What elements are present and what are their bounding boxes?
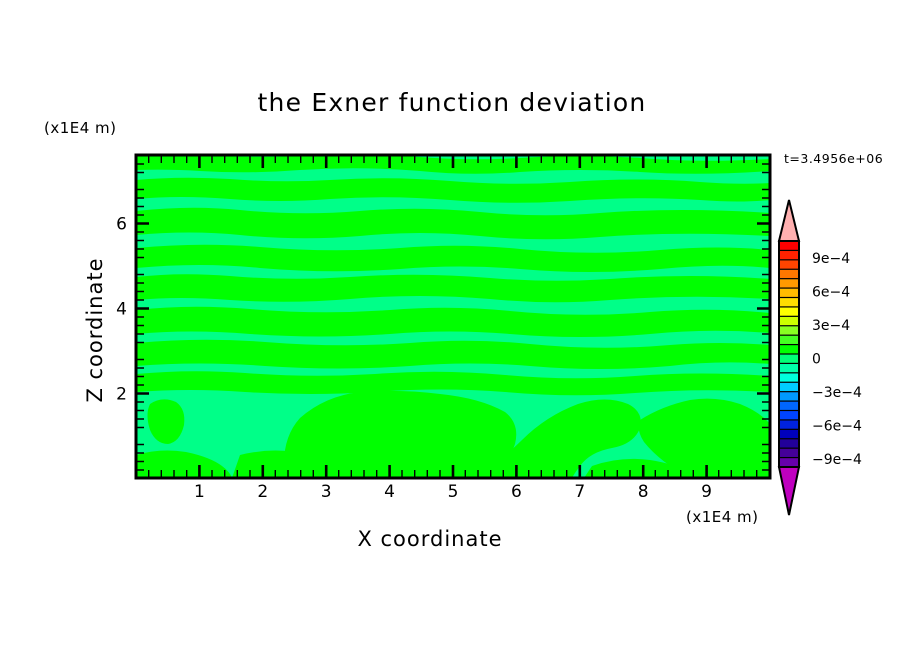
x-axis-tick-label: 4 — [384, 482, 395, 502]
x-axis-tick-label: 5 — [448, 482, 459, 502]
colorbar-over-arrow — [779, 200, 799, 241]
colorbar-tick-label: −3e−4 — [812, 385, 862, 401]
x-axis-tick-label: 1 — [194, 482, 205, 502]
colorbar-tick-label: 9e−4 — [812, 251, 850, 267]
colorbar-band — [779, 448, 799, 458]
colorbar-band — [779, 250, 799, 260]
colorbar-band — [779, 307, 799, 317]
colorbar-band — [779, 363, 799, 373]
colorbar-band — [779, 298, 799, 308]
colorbar-band — [779, 269, 799, 279]
colorbar-tick-label: −9e−4 — [812, 452, 862, 468]
colorbar-band — [779, 439, 799, 449]
colorbar-band — [779, 326, 799, 336]
plot-canvas: 9e−46e−43e−40−3e−4−6e−4−9e−4 123456789 2… — [0, 0, 904, 654]
x-axis-tick-label: 6 — [511, 482, 522, 502]
x-axis-tick-label: 3 — [321, 482, 332, 502]
colorbar-band — [779, 354, 799, 364]
colorbar-band — [779, 241, 799, 251]
x-axis-tick-label: 9 — [701, 482, 712, 502]
colorbar-band — [779, 401, 799, 411]
colorbar-band — [779, 345, 799, 355]
colorbar-band — [779, 411, 799, 421]
colorbar-band — [779, 382, 799, 392]
x-axis-tick-label: 2 — [257, 482, 268, 502]
colorbar-band — [779, 458, 799, 468]
colorbar-band — [779, 373, 799, 383]
x-axis-tick-label: 7 — [574, 482, 585, 502]
contour-plot-figure: the Exner function deviation (x1E4 m) (x… — [0, 0, 904, 654]
colorbar-band — [779, 279, 799, 289]
colorbar-band — [779, 260, 799, 270]
colorbar-band — [779, 316, 799, 326]
z-axis-tick-label: 4 — [116, 300, 127, 320]
z-axis-tick-label: 6 — [116, 215, 127, 235]
colorbar-band — [779, 288, 799, 298]
colorbar-tick-label: 6e−4 — [812, 285, 850, 301]
x-axis-tick-label: 8 — [638, 482, 649, 502]
colorbar-tick-label: 3e−4 — [812, 318, 850, 334]
colorbar-under-arrow — [779, 467, 799, 515]
colorbar-bands — [779, 241, 799, 467]
colorbar-band — [779, 429, 799, 439]
colorbar-tick-label: −6e−4 — [812, 419, 862, 435]
colorbar-band — [779, 392, 799, 402]
colorbar-band — [779, 335, 799, 345]
colorbar: 9e−46e−43e−40−3e−4−6e−4−9e−4 — [779, 200, 862, 515]
z-axis-tick-label: 2 — [116, 385, 127, 405]
colorbar-band — [779, 420, 799, 430]
colorbar-tick-label: 0 — [812, 352, 821, 368]
contour-field — [136, 155, 770, 478]
